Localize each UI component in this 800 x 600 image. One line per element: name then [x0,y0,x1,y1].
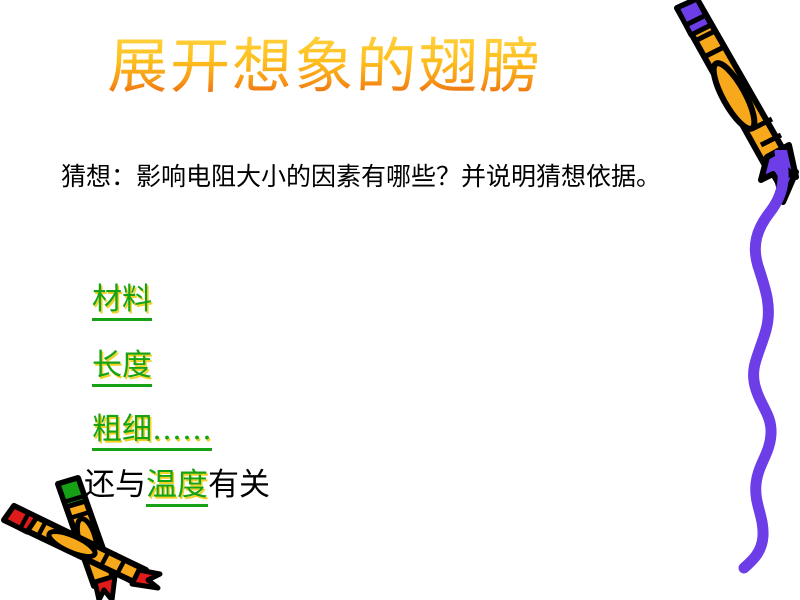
link-material[interactable]: 材料 [92,282,152,321]
answer-item-material: 材料 [92,274,152,318]
answer-item-length: 长度 [92,340,152,384]
slide-canvas: 展开想象的翅膀 猜想：影响电阻大小的因素有哪些？并说明猜想依据。 材料 长度 粗… [0,0,800,600]
link-temperature[interactable]: 温度 [146,467,208,507]
purple-squiggle-icon [722,150,800,584]
answer-item-temperature: 还与温度有关 [84,459,270,504]
link-length[interactable]: 长度 [92,348,152,387]
final-line-prefix: 还与 [84,467,146,503]
page-title: 展开想象的翅膀 [107,30,544,105]
final-line-suffix: 有关 [208,467,270,503]
link-thickness[interactable]: 粗细…… [92,412,212,451]
prompt-question: 猜想：影响电阻大小的因素有哪些？并说明猜想依据。 [61,157,661,193]
answer-item-thickness: 粗细…… [92,404,212,448]
crayon-top-right-icon [655,0,800,213]
